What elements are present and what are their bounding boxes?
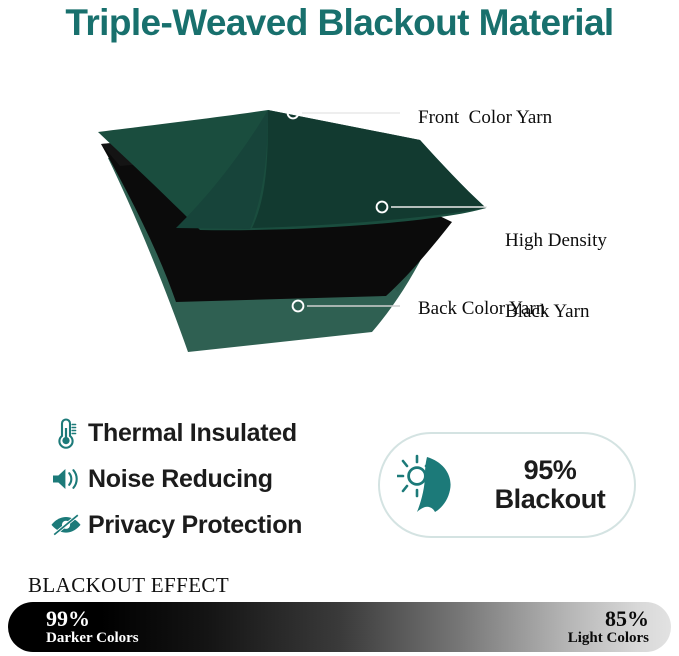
- callout-label-high-density: High Density Black Yarn: [505, 181, 607, 347]
- blackout-badge: 95% Blackout: [378, 432, 636, 538]
- blackout-percent: 95%: [472, 456, 628, 485]
- feature-thermal-insulated: Thermal Insulated: [44, 410, 374, 456]
- feature-privacy-protection: Privacy Protection: [44, 502, 374, 548]
- blackout-effect-right-percent: 85%: [568, 607, 649, 630]
- sun-blocked-by-curtain-icon: [380, 454, 472, 516]
- callout-label-front: Front Color Yarn: [418, 106, 552, 130]
- feature-label-privacy-protection: Privacy Protection: [88, 511, 302, 540]
- page-title: Triple-Weaved Blackout Material: [0, 2, 679, 44]
- blackout-effect-right: 85% Light Colors: [568, 607, 649, 647]
- feature-label-noise-reducing: Noise Reducing: [88, 465, 273, 494]
- callout-label-high-density-line1: High Density: [505, 229, 607, 253]
- blackout-effect-right-label: Light Colors: [568, 630, 649, 647]
- blackout-effect-left-label: Darker Colors: [46, 630, 139, 647]
- callout-front: [288, 108, 400, 119]
- feature-noise-reducing: Noise Reducing: [44, 456, 374, 502]
- speaker-sound-icon: [44, 461, 88, 497]
- thermometer-icon: [44, 415, 88, 451]
- blackout-effect-left: 99% Darker Colors: [46, 607, 139, 647]
- feature-label-thermal-insulated: Thermal Insulated: [88, 419, 297, 448]
- eye-slash-icon: [44, 507, 88, 543]
- feature-list: Thermal Insulated Noise Reducing Privacy…: [44, 410, 374, 548]
- blackout-badge-text: 95% Blackout: [472, 456, 634, 514]
- blackout-effect-left-percent: 99%: [46, 607, 139, 630]
- callout-label-back: Back Color Yarn: [418, 297, 545, 321]
- blackout-label: Blackout: [472, 485, 628, 514]
- blackout-effect-heading: BLACKOUT EFFECT: [28, 573, 229, 598]
